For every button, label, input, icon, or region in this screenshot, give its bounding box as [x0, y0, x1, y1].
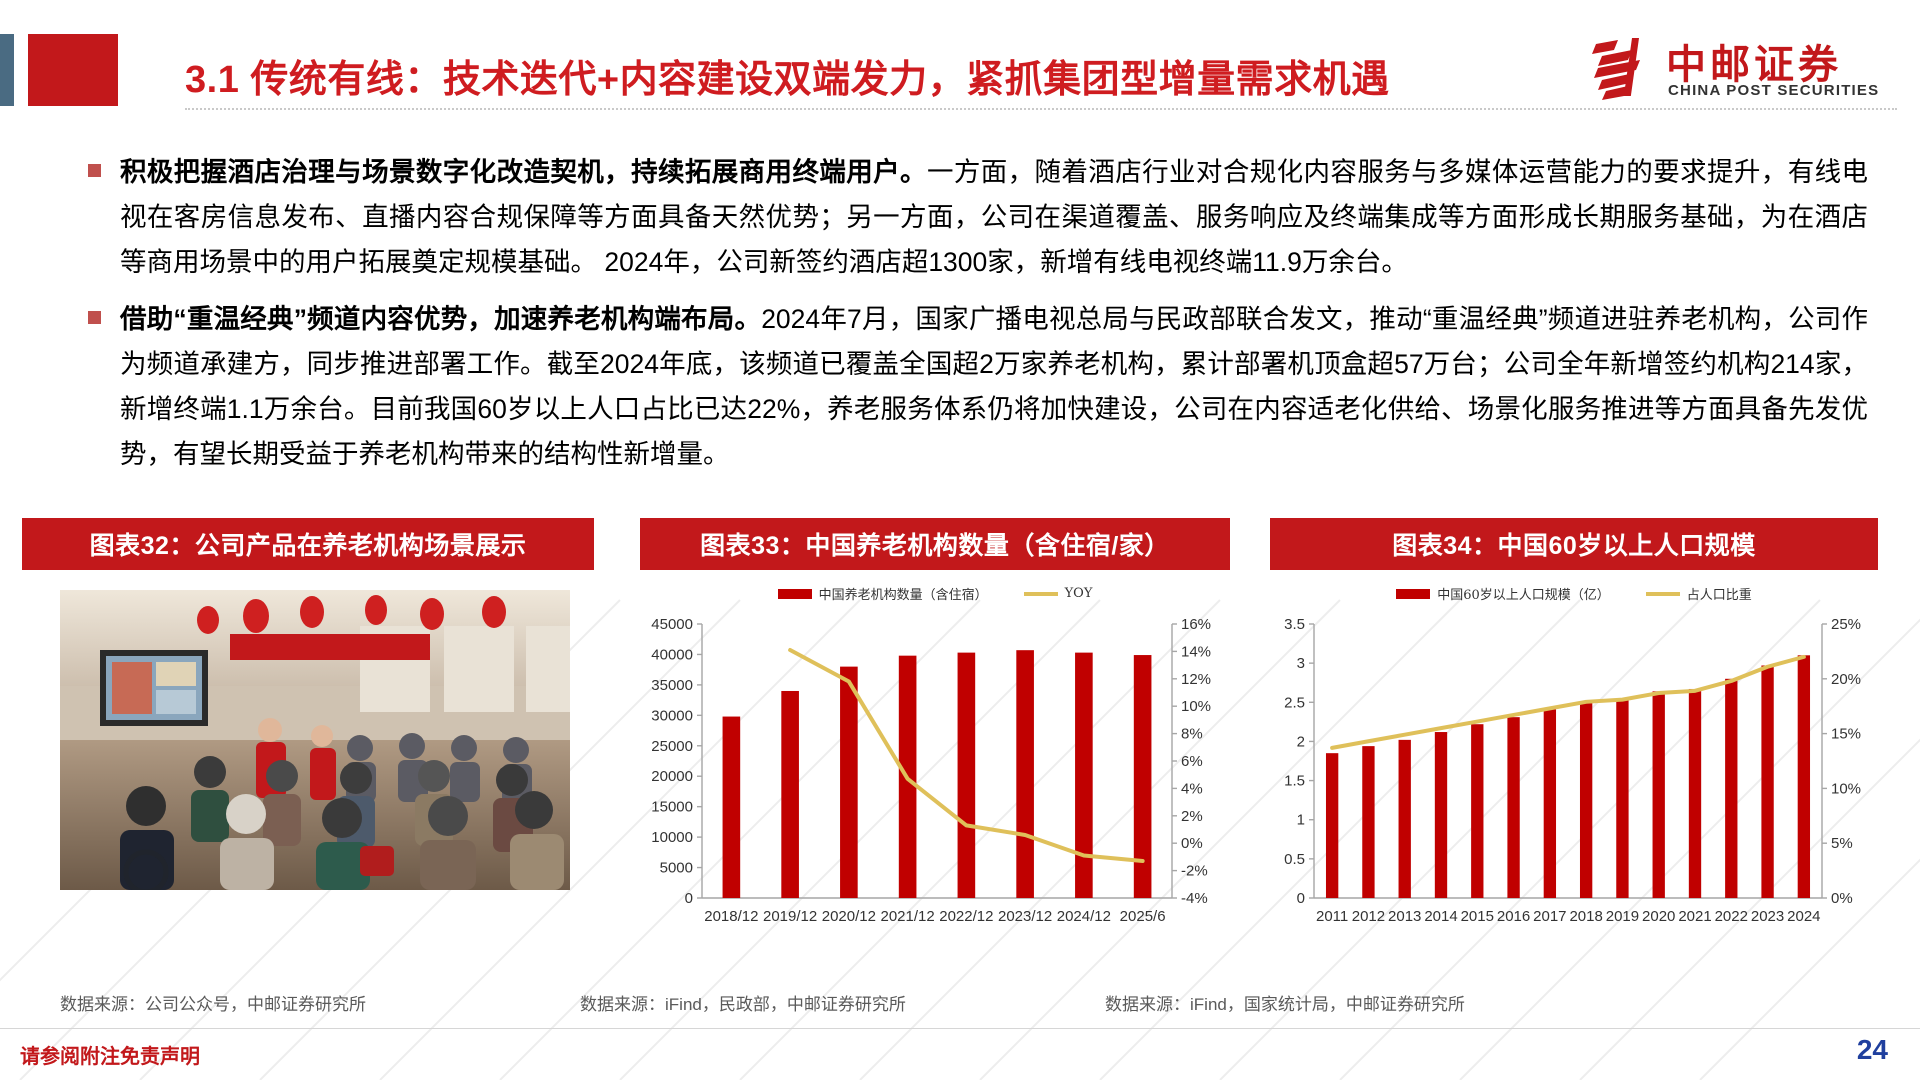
legend-swatch-bar-icon [778, 589, 812, 599]
y2-axis-tick-label: 10% [1831, 780, 1861, 797]
page-number: 24 [1857, 1034, 1888, 1066]
paragraph-2: 借助“重温经典”频道内容优势，加速养老机构端布局。2024年7月，国家广播电视总… [78, 297, 1868, 477]
y-axis-tick-label: 1.5 [1284, 773, 1305, 790]
x-axis-tick-label: 2012 [1352, 908, 1385, 925]
bullet-square-icon [88, 311, 101, 324]
x-axis-tick-label: 2022/12 [939, 908, 993, 925]
bar [958, 653, 976, 898]
y2-axis-tick-label: 4% [1181, 780, 1203, 797]
x-axis-tick-label: 2020/12 [822, 908, 876, 925]
x-axis-tick-label: 2021 [1678, 908, 1711, 925]
bar [1580, 703, 1592, 898]
bar [1362, 746, 1374, 898]
legend-label-bar: 中国60岁以上人口规模（亿） [1437, 584, 1610, 603]
y-axis-tick-label: 2.5 [1284, 694, 1305, 711]
y2-axis-tick-label: 6% [1181, 753, 1203, 770]
y2-axis-tick-label: 12% [1181, 671, 1211, 688]
china-post-logo-icon [1588, 38, 1654, 100]
figure-32-panel [22, 580, 594, 920]
x-axis-tick-label: 2011 [1316, 908, 1348, 925]
figure-34-plot-area: 00.511.522.533.50%5%10%15%20%25%20112012… [1270, 612, 1878, 932]
x-axis-tick-label: 2024 [1787, 908, 1820, 925]
bar [1471, 724, 1483, 898]
y-axis-tick-label: 3 [1297, 655, 1305, 672]
figure-33-banner: 图表33：中国养老机构数量（含住宿/家） [640, 518, 1230, 570]
y-axis-tick-label: 15000 [651, 799, 693, 816]
bar [1016, 650, 1034, 898]
bar [723, 717, 741, 898]
figure-33-source: 数据来源：iFind，民政部，中邮证券研究所 [580, 990, 906, 1015]
paragraph-1: 积极把握酒店治理与场景数字化改造契机，持续拓展商用终端用户。一方面，随着酒店行业… [78, 150, 1868, 285]
paragraph-1-lead: 积极把握酒店治理与场景数字化改造契机，持续拓展商用终端用户。 [120, 157, 927, 187]
brand-logo: 中邮证券 CHINA POST SECURITIES [1588, 32, 1898, 112]
legend-label-bar: 中国养老机构数量（含住宿） [819, 584, 988, 603]
photo-illustration [60, 590, 570, 890]
x-axis-tick-label: 2015 [1461, 908, 1494, 925]
footer-divider [0, 1028, 1920, 1029]
paragraph-2-lead: 借助“重温经典”频道内容优势，加速养老机构端布局。 [120, 304, 761, 334]
legend-label-line: YOY [1065, 586, 1093, 601]
y-axis-tick-label: 45000 [651, 616, 693, 633]
x-axis-tick-label: 2018 [1569, 908, 1602, 925]
elderly-care-facility-photo [60, 590, 570, 890]
x-axis-tick-label: 2019/12 [763, 908, 817, 925]
bar [781, 691, 799, 898]
legend-swatch-line-icon [1024, 592, 1058, 596]
y2-axis-tick-label: 2% [1181, 808, 1203, 825]
y-axis-tick-label: 35000 [651, 677, 693, 694]
x-axis-tick-label: 2014 [1424, 908, 1457, 925]
bar [1653, 691, 1665, 898]
y-axis-tick-label: 0 [1297, 890, 1305, 907]
bar [1689, 689, 1701, 898]
x-axis-tick-label: 2020 [1642, 908, 1675, 925]
x-axis-tick-label: 2016 [1497, 908, 1530, 925]
figure-33-legend: 中国养老机构数量（含住宿） YOY [640, 584, 1230, 603]
figure-33-chart: 中国养老机构数量（含住宿） YOY 0500010000150002000025… [640, 578, 1230, 938]
figure-33-plot-area: 0500010000150002000025000300003500040000… [640, 612, 1230, 932]
y-axis-tick-label: 40000 [651, 646, 693, 663]
x-axis-tick-label: 2023/12 [998, 908, 1052, 925]
x-axis-tick-label: 2022 [1715, 908, 1748, 925]
header-divider [185, 108, 1897, 110]
figure-34-banner: 图表34：中国60岁以上人口规模 [1270, 518, 1878, 570]
y-axis-tick-label: 3.5 [1284, 616, 1305, 633]
header-accent-red [28, 34, 118, 106]
bar [1399, 740, 1411, 898]
y-axis-tick-label: 5000 [660, 860, 693, 877]
footer-disclaimer: 请参阅附注免责声明 [20, 1040, 200, 1069]
bar [1326, 753, 1338, 898]
y2-axis-tick-label: 25% [1831, 616, 1861, 633]
page-title: 3.1 传统有线：技术迭代+内容建设双端发力，紧抓集团型增量需求机遇 [185, 48, 1585, 103]
x-axis-tick-label: 2024/12 [1057, 908, 1111, 925]
legend-item-line: YOY [1024, 586, 1093, 601]
y2-axis-tick-label: 14% [1181, 643, 1211, 660]
figure-34-legend: 中国60岁以上人口规模（亿） 占人口比重 [1270, 584, 1878, 603]
bar [1075, 653, 1093, 898]
x-axis-tick-label: 2019 [1606, 908, 1639, 925]
y-axis-tick-label: 0.5 [1284, 851, 1305, 868]
slide-header: 3.1 传统有线：技术迭代+内容建设双端发力，紧抓集团型增量需求机遇 中邮证券 … [0, 22, 1920, 118]
figure-32-banner: 图表32：公司产品在养老机构场景展示 [22, 518, 594, 570]
plot33-svg: 0500010000150002000025000300003500040000… [640, 612, 1230, 932]
y-axis-tick-label: 10000 [651, 829, 693, 846]
x-axis-tick-label: 2021/12 [881, 908, 935, 925]
legend-label-line: 占人口比重 [1687, 584, 1752, 603]
y-axis-tick-label: 25000 [651, 738, 693, 755]
slide: 3.1 传统有线：技术迭代+内容建设双端发力，紧抓集团型增量需求机遇 中邮证券 … [0, 0, 1920, 1080]
bar [1761, 665, 1773, 898]
bar [1435, 732, 1447, 898]
brand-name-en: CHINA POST SECURITIES [1668, 82, 1879, 99]
y2-axis-tick-label: 16% [1181, 616, 1211, 633]
y2-axis-tick-label: 15% [1831, 726, 1861, 743]
figure-34-chart: 中国60岁以上人口规模（亿） 占人口比重 00.511.522.533.50%5… [1270, 578, 1878, 938]
y-axis-tick-label: 1 [1297, 812, 1305, 829]
legend-item-bar: 中国60岁以上人口规模（亿） [1396, 584, 1610, 603]
y2-axis-tick-label: 10% [1181, 698, 1211, 715]
y2-axis-tick-label: 5% [1831, 835, 1853, 852]
body-content: 积极把握酒店治理与场景数字化改造契机，持续拓展商用终端用户。一方面，随着酒店行业… [78, 150, 1868, 489]
y-axis-tick-label: 2 [1297, 733, 1305, 750]
plot34-svg: 00.511.522.533.50%5%10%15%20%25%20112012… [1270, 612, 1878, 932]
y-axis-tick-label: 30000 [651, 707, 693, 724]
y2-axis-tick-label: 0% [1181, 835, 1203, 852]
bar [1507, 717, 1519, 898]
bar [840, 667, 858, 898]
figure-32-source: 数据来源：公司公众号，中邮证券研究所 [60, 990, 366, 1015]
legend-swatch-line-icon [1646, 592, 1680, 596]
bar [1725, 679, 1737, 898]
y-axis-tick-label: 0 [685, 890, 693, 907]
x-axis-tick-label: 2013 [1388, 908, 1421, 925]
x-axis-tick-label: 2017 [1533, 908, 1566, 925]
header-accent-blue [0, 34, 14, 106]
y-axis-tick-label: 20000 [651, 768, 693, 785]
legend-swatch-bar-icon [1396, 589, 1430, 599]
bar [1616, 699, 1628, 898]
y2-axis-tick-label: 0% [1831, 890, 1853, 907]
legend-item-bar: 中国养老机构数量（含住宿） [778, 584, 988, 603]
bar [1798, 655, 1810, 898]
x-axis-tick-label: 2018/12 [704, 908, 758, 925]
x-axis-tick-label: 2023 [1751, 908, 1784, 925]
bar [1544, 709, 1556, 898]
y2-axis-tick-label: -4% [1181, 890, 1208, 907]
y2-axis-tick-label: -2% [1181, 863, 1208, 880]
bullet-square-icon [88, 164, 101, 177]
figure-34-source: 数据来源：iFind，国家统计局，中邮证券研究所 [1105, 990, 1465, 1015]
y2-axis-tick-label: 20% [1831, 671, 1861, 688]
legend-item-line: 占人口比重 [1646, 584, 1752, 603]
y2-axis-tick-label: 8% [1181, 726, 1203, 743]
x-axis-tick-label: 2025/6 [1120, 908, 1166, 925]
